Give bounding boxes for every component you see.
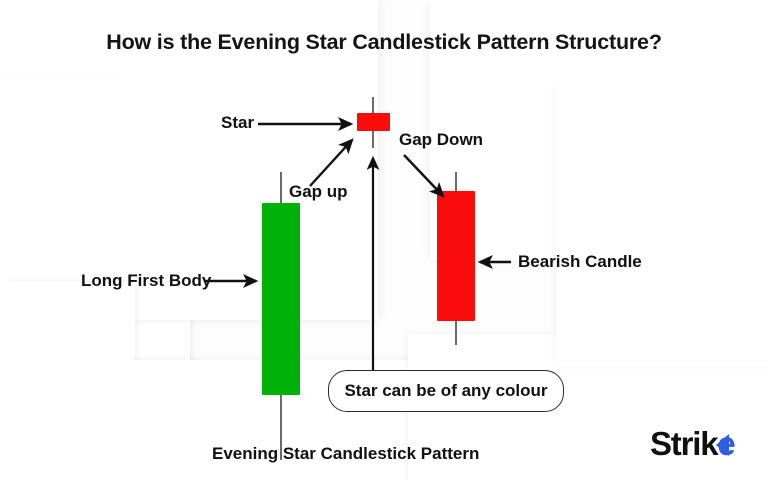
strike-logo-part2: k xyxy=(700,425,717,462)
page-title: How is the Evening Star Candlestick Patt… xyxy=(0,30,768,55)
chart-caption: Evening Star Candlestick Pattern xyxy=(212,444,479,464)
label-gap-down: Gap Down xyxy=(399,130,483,150)
strike-logo-part1: Stri xyxy=(650,425,700,462)
label-bearish-candle: Bearish Candle xyxy=(518,252,642,272)
infographic-canvas: How is the Evening Star Candlestick Patt… xyxy=(0,0,768,480)
strike-logo-part3: e xyxy=(717,425,734,462)
label-gap-up: Gap up xyxy=(289,182,348,202)
star-candle-body xyxy=(357,113,390,131)
background-panel xyxy=(0,282,135,480)
label-long-first-body: Long First Body xyxy=(81,271,211,291)
star-colour-callout: Star can be of any colour xyxy=(328,370,564,412)
star-colour-callout-text: Star can be of any colour xyxy=(344,381,547,401)
strike-logo[interactable]: Strike xyxy=(650,424,762,464)
background-panel xyxy=(556,76,768,366)
bullish-candle-body xyxy=(262,203,300,395)
label-star: Star xyxy=(221,113,254,133)
bearish-candle-body xyxy=(437,191,475,321)
strike-logo-text: Strike xyxy=(650,424,735,464)
